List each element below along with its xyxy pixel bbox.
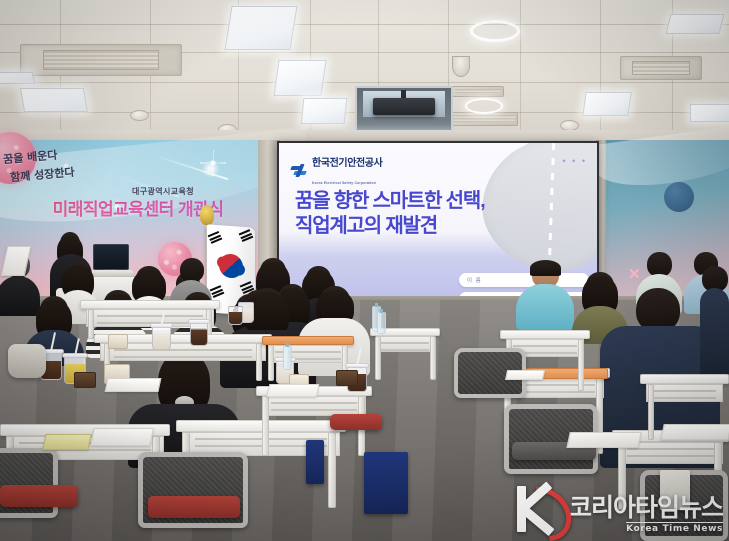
ceiling-light-panel-8 — [690, 104, 729, 122]
water-bottle-2 — [283, 346, 292, 370]
ceiling-light-panel-3 — [301, 98, 348, 124]
flag-finial-icon — [200, 205, 214, 225]
dessert-box-4 — [336, 370, 358, 386]
ac-vent-ceiling-center-2 — [446, 112, 518, 126]
slide-org-logo: 한국전기안전공사 Korea Electrical Safety Corpora… — [291, 153, 382, 189]
water-bottle-3 — [377, 312, 386, 334]
watermark-name-ko: 코리아타임뉴스 — [569, 494, 723, 521]
ceiling-ring-light — [470, 20, 520, 42]
handout-5 — [660, 424, 729, 440]
chair-seat-mid-right — [330, 414, 382, 430]
slide-title-line-1: 꿈을 향한 스마트한 선택, — [295, 189, 565, 214]
handout-6 — [505, 370, 545, 380]
ceiling-speaker — [452, 56, 470, 77]
handout-4 — [566, 432, 641, 448]
ac-vent-ceiling-center — [452, 86, 504, 97]
backpack-left — [8, 344, 46, 378]
ceiling-ring-light-2 — [465, 98, 503, 114]
tote-bag-blue — [364, 452, 408, 514]
ac-vent-ceiling-left — [20, 44, 182, 76]
slide-menu-dots-icon: • • • — [563, 156, 587, 166]
iced-coffee-cup-4 — [228, 306, 243, 325]
ceiling-light-panel-6 — [666, 14, 725, 34]
drink-cup-2 — [152, 326, 171, 350]
tote-bag-blue-2 — [306, 440, 324, 484]
desk-far-right-mid — [640, 374, 729, 414]
watermark: 코리아타임뉴스 Korea Time News — [511, 483, 723, 535]
ceiling-light-panel-5 — [20, 88, 88, 112]
slide-title-line-2: 직업계고의 재발견 — [295, 214, 565, 239]
chair-seat-front-center — [148, 496, 240, 518]
slide-title: 꿈을 향한 스마트한 선택, 직업계고의 재발견 — [295, 189, 565, 239]
chair-seat-front-left — [0, 485, 78, 507]
handout-2 — [105, 378, 162, 392]
ceiling-light-panel-1 — [225, 6, 298, 50]
iced-coffee-cup-2 — [190, 322, 208, 346]
kesco-logo-icon — [291, 164, 308, 179]
cup-lid-4 — [188, 319, 210, 324]
ac-vent-ceiling-right — [620, 56, 702, 80]
watermark-k-logo-icon — [511, 483, 565, 535]
attendee-mid-blue-shirt — [516, 262, 574, 328]
dessert-box-2 — [74, 372, 96, 388]
ceiling-light-panel-4 — [0, 72, 35, 84]
handout-1 — [90, 428, 154, 446]
slide-org-name-ko: 한국전기안전공사 — [312, 158, 382, 169]
handout-3 — [267, 384, 320, 397]
smoke-detector-1 — [130, 110, 149, 121]
ceiling — [0, 0, 729, 136]
attendee-front-far-right — [700, 266, 729, 376]
slide-org-name-en: Korea Electrical Safety Corporation — [312, 181, 376, 185]
projector — [373, 98, 435, 115]
dessert-box-3 — [108, 334, 128, 349]
taeguk-symbol-icon — [215, 250, 247, 281]
slide-field-label-name: 이 름 — [467, 276, 482, 284]
chair-front-left — [0, 448, 58, 518]
watermark-name-en: Korea Time News — [626, 522, 723, 535]
photo-scene: 꿈을 배운다 함께 성장한다 대구광역시교육청 미래직업교육센터 개관식 ✕ 한… — [0, 0, 729, 541]
ceiling-light-panel-7 — [582, 92, 631, 116]
notepad-1 — [42, 434, 91, 450]
wall-circle-decal — [664, 182, 694, 212]
ceiling-light-panel-2 — [273, 60, 326, 96]
